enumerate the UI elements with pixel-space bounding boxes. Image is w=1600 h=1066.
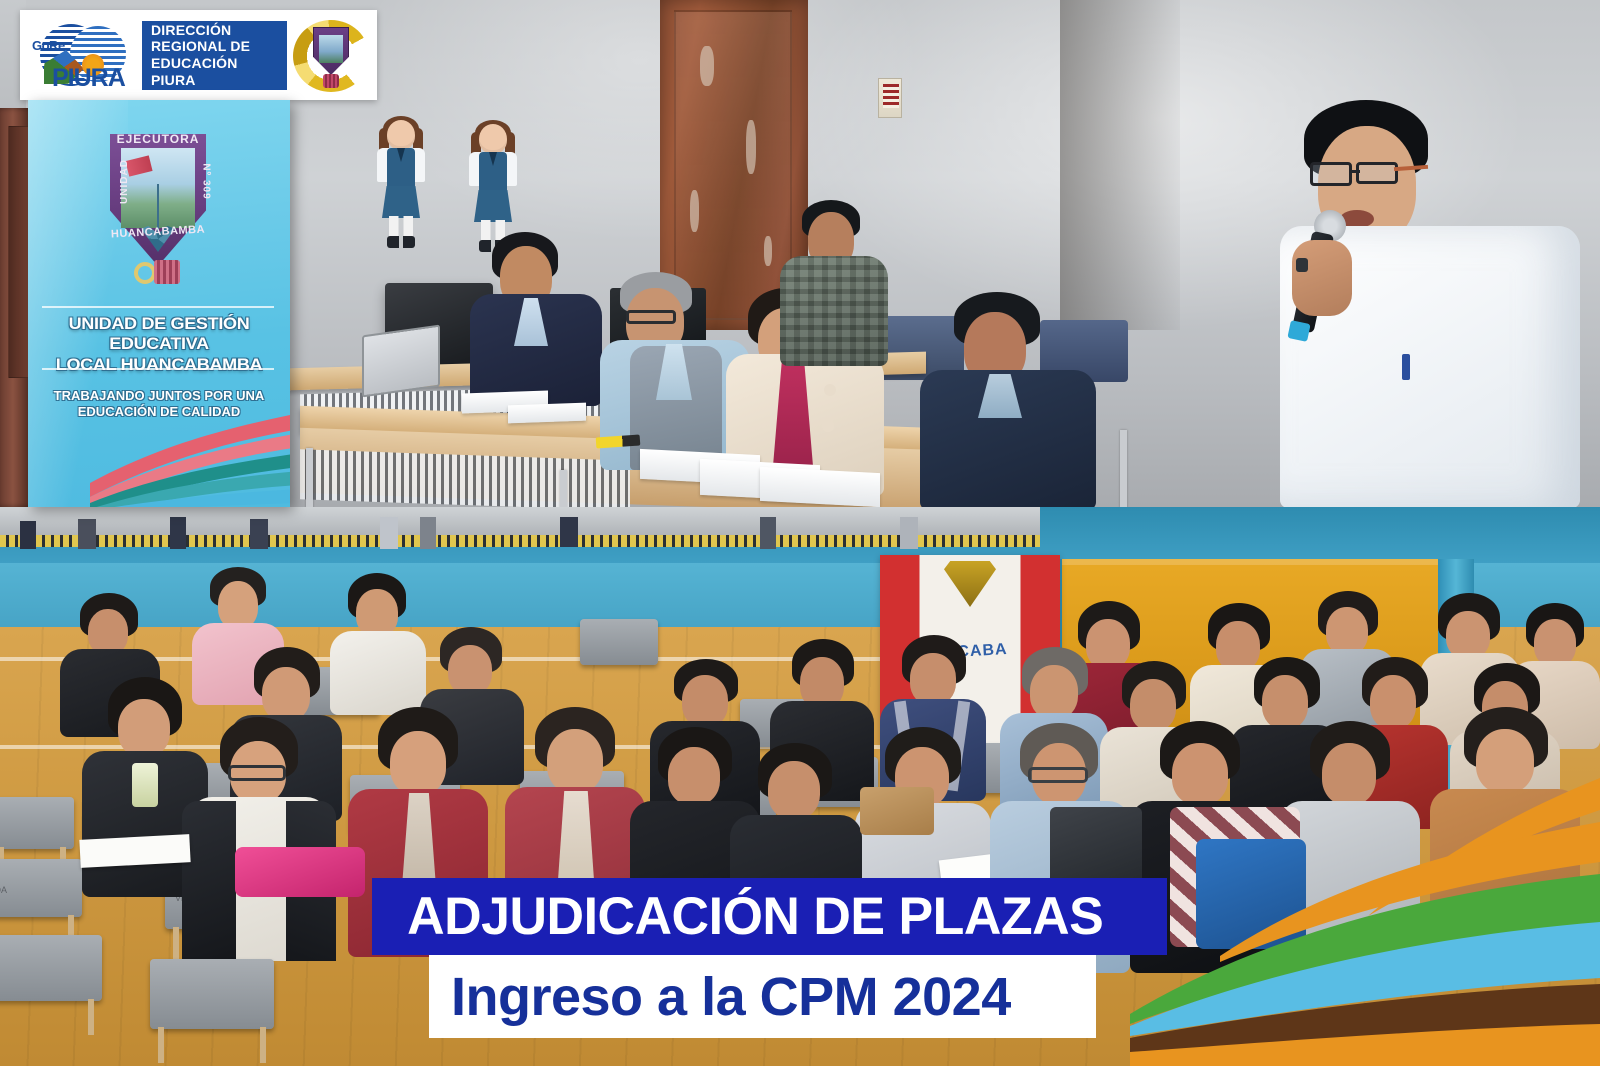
piura-logo-text: PIURA [52,64,125,93]
chair-label: IDA [0,885,7,895]
standing-attendee [780,200,890,370]
table-leg [1120,430,1127,507]
balcony-person [420,517,436,549]
divider [42,368,274,370]
chair [580,619,658,665]
banner-waves-svg [90,405,290,507]
caption-title-bar: ADJUDICACIÓN DE PLAZAS [372,878,1167,955]
rollup-banner: EJECUTORA UNIDAD Nº 309 HUANCABAMBA UNID… [28,100,290,507]
decorative-ribbon-waves [1130,766,1600,1066]
chair [0,797,74,849]
balcony-person [20,521,36,549]
document-stack [760,467,880,507]
audience-member [330,573,426,705]
ugel-crest-icon [291,14,371,96]
caption-title: ADJUDICACIÓN DE PLAZAS [407,886,1103,947]
header-logo-bar: GoRe PIURA DIRECCIÓN REGIONAL DE EDUCACI… [20,10,377,100]
student-wall-decal [373,120,429,250]
banner-decorative-waves [90,405,290,507]
institution-line-2: REGIONAL DE [151,38,278,55]
institution-line-3: EDUCACIÓN PIURA [151,55,278,88]
laptop [362,325,440,398]
balcony-person [560,517,578,547]
caption-subtitle-bar: Ingreso a la CPM 2024 [429,955,1096,1038]
paper-sheet [79,834,190,868]
crest-text-right: Nº 309 [201,163,212,199]
balcony-person [760,517,776,549]
pink-bag [235,847,365,897]
gore-logo-text: GoRe [32,38,65,53]
panel-member-suit [470,232,610,402]
gore-piura-logo: GoRe PIURA [26,20,138,90]
speaker-hand [1292,240,1352,316]
wall-shadow-right [1060,0,1180,330]
gym-balcony [0,507,1040,537]
flag-crest-icon [944,561,996,607]
divider [42,306,274,308]
balcony-person [900,517,918,549]
microphone-base [1287,320,1310,342]
document-stack [508,403,586,424]
ugel-huancabamba-crest: EJECUTORA UNIDAD Nº 309 HUANCABAMBA [58,114,258,304]
balcony-person [78,519,96,549]
institution-name-block: DIRECCIÓN REGIONAL DE EDUCACIÓN PIURA [142,21,287,90]
crest-text-left: UNIDAD [119,159,130,204]
banner-title-line-2: LOCAL HUANCABAMBA [33,355,285,375]
drink-cup [132,763,158,807]
balcony-person [250,519,268,549]
audience-member [190,717,328,962]
banner-slogan-line-1: TRABAJANDO JUNTOS POR UNA [40,388,278,404]
chair [0,935,102,1001]
table-leg [306,448,313,507]
speaker-with-microphone [1270,100,1600,507]
institution-line-1: DIRECCIÓN [151,22,278,39]
ribbon-svg [1130,766,1600,1066]
folder [860,787,934,835]
crest-text-top: EJECUTORA [117,132,200,146]
composite-image: ANCABA IDA Vms Imo [0,0,1600,1066]
wall-notice-sign [878,78,902,118]
caption-subtitle: Ingreso a la CPM 2024 [451,966,1011,1028]
chair: IDA [0,859,82,917]
table-leg [560,470,567,507]
chair [150,959,274,1029]
balcony-person [170,517,186,549]
panel-member-young [920,292,1100,507]
balcony-railing [0,535,1040,547]
balcony-person [380,517,398,549]
banner-title-line-1: UNIDAD DE GESTIÓN EDUCATIVA [33,314,285,355]
